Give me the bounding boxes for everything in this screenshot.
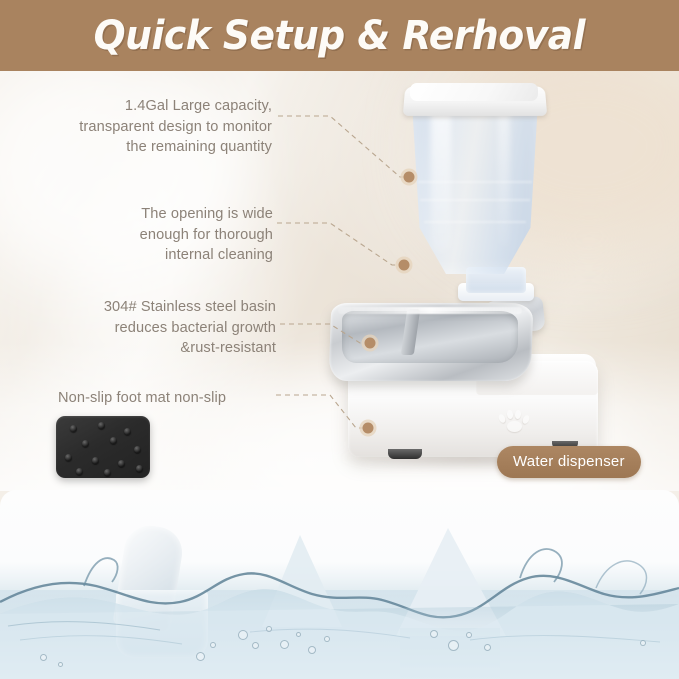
- product-stage: 1.4Gal Large capacity, transparent desig…: [0, 71, 679, 491]
- callout-capacity: 1.4Gal Large capacity, transparent desig…: [10, 96, 272, 158]
- bubble: [448, 640, 459, 651]
- bubble: [210, 642, 216, 648]
- infographic-page: Quick Setup & Rerhoval: [0, 0, 679, 679]
- basin-inner-bowl: [342, 311, 518, 363]
- white-tank-lid-top: [410, 83, 538, 101]
- bubble: [58, 662, 63, 667]
- transparent-water-tank: [409, 96, 541, 274]
- base-foot-left: [388, 449, 422, 459]
- callout-basin: 304# Stainless steel basin reduces bacte…: [18, 297, 276, 359]
- status-badge: Water dispenser: [497, 446, 641, 478]
- submerged-basin-part: [116, 590, 208, 658]
- tank-highlight-left: [431, 103, 451, 253]
- callout-opening: The opening is wide enough for thorough …: [38, 204, 273, 266]
- header-band: Quick Setup & Rerhoval: [0, 0, 679, 71]
- tank-highlight-right: [498, 107, 510, 247]
- submerged-tank-shape-1: [262, 535, 342, 627]
- bubble: [640, 640, 646, 646]
- page-title: Quick Setup & Rerhoval: [94, 13, 585, 59]
- bubble: [238, 630, 248, 640]
- basin-rim-highlight: [338, 307, 522, 314]
- bubble: [466, 632, 472, 638]
- callout-foot-mat: Non-slip foot mat non-slip: [20, 388, 270, 409]
- bubble: [40, 654, 47, 661]
- bubble: [280, 640, 289, 649]
- bubble: [484, 644, 491, 651]
- bubble: [252, 642, 259, 649]
- submerged-tank-shape-2: [396, 528, 506, 636]
- bubble: [196, 652, 205, 661]
- submerged-tank-shadow: [400, 628, 500, 678]
- bubble: [296, 632, 301, 637]
- bubble: [266, 626, 272, 632]
- water-splash-image: [0, 490, 679, 679]
- non-slip-foot-mat-swatch: [56, 416, 150, 478]
- bubble: [430, 630, 438, 638]
- bubble: [308, 646, 316, 654]
- paw-print-icon: [497, 410, 531, 432]
- bubble: [324, 636, 330, 642]
